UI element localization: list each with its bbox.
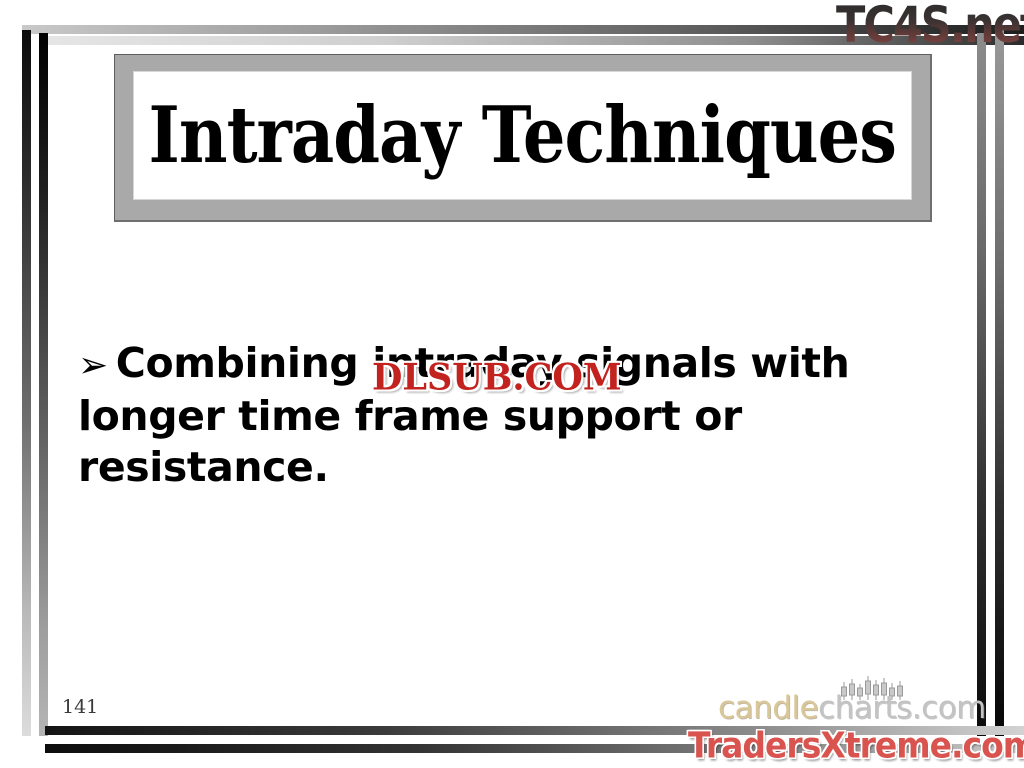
tc4s-brand-watermark: TC4S.net <box>836 0 1024 55</box>
slide-page-number: 141 <box>62 696 98 718</box>
frame-bar-left-inner <box>39 33 48 736</box>
presentation-slide: Intraday Techniques ➢Combining intraday … <box>0 0 1024 768</box>
slide-title-inner-panel: Intraday Techniques <box>133 71 912 200</box>
frame-bar-left-outer <box>22 30 31 736</box>
frame-bar-right-outer <box>995 25 1004 736</box>
arrow-bullet-icon: ➢ <box>78 345 116 386</box>
slide-title-plate: Intraday Techniques <box>114 54 932 222</box>
page-title: Intraday Techniques <box>149 97 896 175</box>
tradersxtreme-wordmark: TradersXtreme.com <box>688 724 1024 766</box>
dlsub-watermark: DLSUB.COM <box>372 356 622 399</box>
candlecharts-wordmark: candlecharts.com <box>718 690 986 726</box>
candlecharts-word-charts: charts.com <box>818 690 986 726</box>
frame-bar-right-inner <box>977 33 986 736</box>
candlecharts-word-candle: candle <box>718 690 818 726</box>
candlecharts-logo: candlecharts.com <box>718 690 988 726</box>
